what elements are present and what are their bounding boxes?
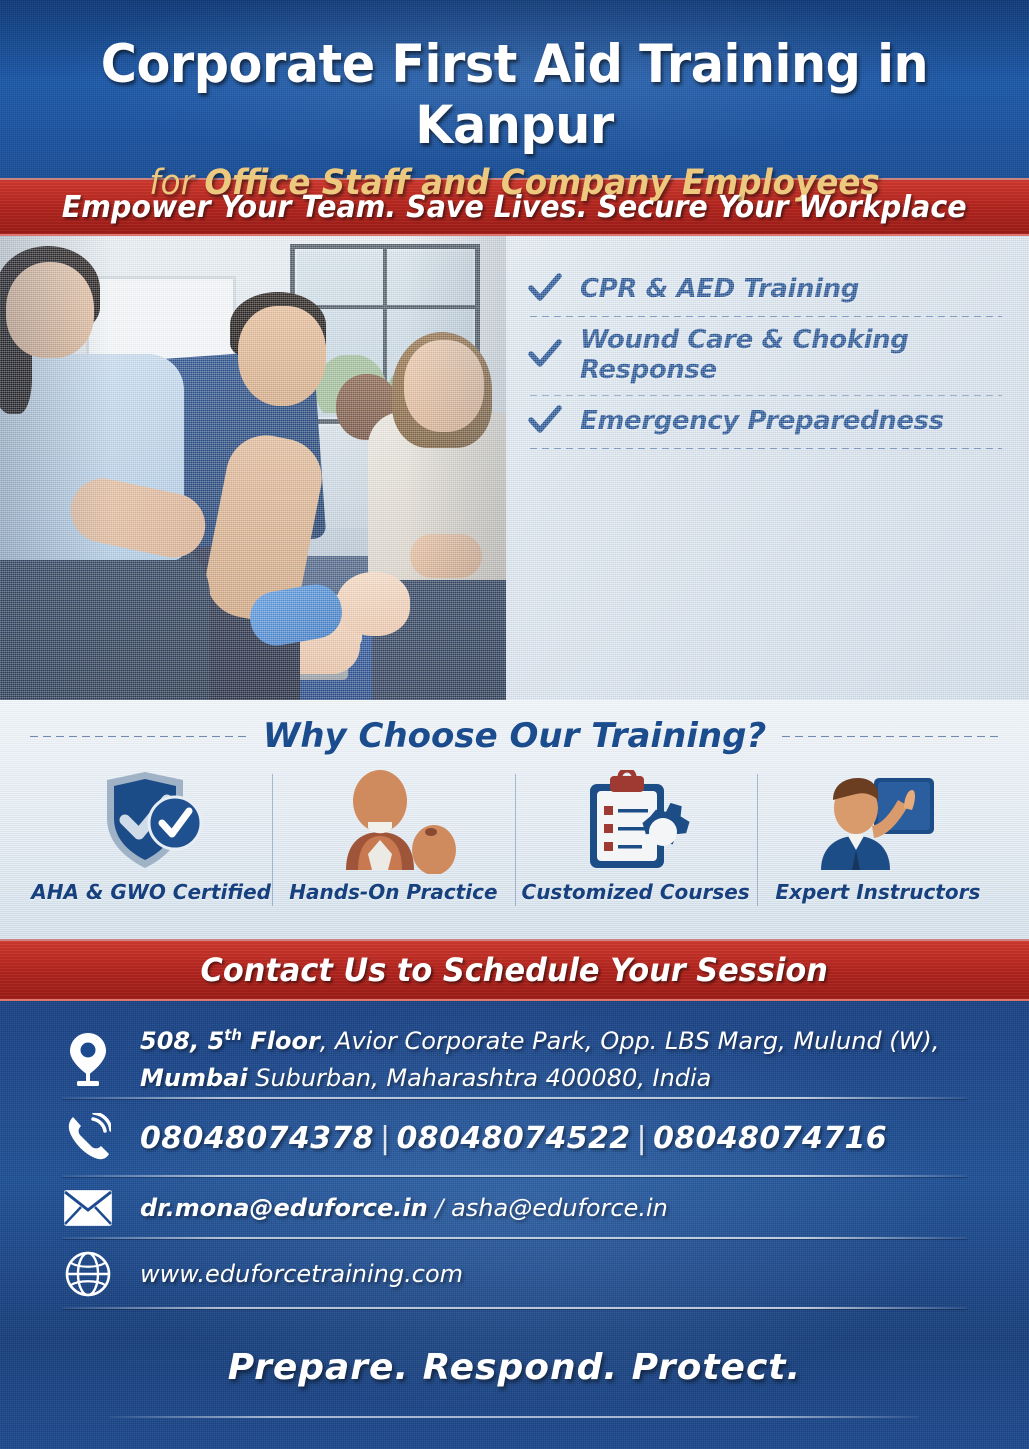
contact-row-website: www.eduforcetraining.com [0,1239,1029,1307]
contact-row-address: 508, 5th Floor, Avior Corporate Park, Op… [0,1001,1029,1097]
location-pin-icon [60,1031,116,1089]
cpr-manikin-icon [330,768,456,876]
feature-bullet-list: CPR & AED Training Wound Care & Choking … [510,264,1010,449]
website-url[interactable]: www.eduforcetraining.com [140,1260,463,1288]
globe-icon [60,1251,116,1297]
address-text: 508, 5th Floor, Avior Corporate Park, Op… [140,1023,939,1097]
heading-rule-left [30,736,247,737]
feature-label: Expert Instructors [775,880,980,904]
hero-section: CPR & AED Training Wound Care & Choking … [0,236,1029,700]
email-primary[interactable]: dr.mona@eduforce.in [140,1194,428,1222]
address-line1-bold-a: 508, 5 [140,1027,224,1055]
heading-rule-right [782,736,999,737]
contact-row-phone: 08048074378|08048074522|08048074716 [0,1099,1029,1175]
contact-row-email: dr.mona@eduforce.in / asha@eduforce.in [0,1177,1029,1237]
why-choose-heading-row: Why Choose Our Training? [0,700,1029,756]
phone-separator: | [374,1121,397,1156]
instructor-board-icon [816,768,940,876]
photo-woman-left-head [6,262,94,358]
feature-label: Hands-On Practice [289,880,497,904]
email-secondary[interactable]: asha@eduforce.in [451,1194,668,1222]
phone-icon [60,1113,116,1163]
slogan: Prepare. Respond. Protect. [0,1309,1029,1388]
envelope-icon [60,1189,116,1227]
bullet-label: Wound Care & Choking Response [580,325,1010,385]
tagline-text: Empower Your Team. Save Lives. Secure Yo… [62,190,967,225]
photo-instructor-head [238,306,326,406]
photo-manikin-head [336,572,410,636]
shield-check-icon [95,768,207,876]
clipboard-gear-icon [580,768,692,876]
contact-heading-band: Contact Us to Schedule Your Session [0,939,1029,1001]
phone-text: 08048074378|08048074522|08048074716 [140,1121,887,1156]
email-separator: / [428,1194,451,1222]
phone-separator: | [631,1121,654,1156]
phone-number-1[interactable]: 08048074378 [140,1121,374,1156]
why-choose-heading: Why Choose Our Training? [263,716,766,756]
photo-woman-right-head [404,340,484,432]
photo-woman-left-legs [0,536,210,700]
feature-grid: AHA & GWO Certified Hands-On Practice [0,756,1029,904]
address-line1-rest: , Avior Corporate Park, Opp. LBS Marg, M… [320,1027,940,1055]
check-icon [528,272,562,306]
contact-heading: Contact Us to Schedule Your Session [201,951,828,989]
why-choose-section: Why Choose Our Training? AHA & GWO Certi… [0,700,1029,939]
poster-root: Corporate First Aid Training in Kanpur f… [0,0,1029,1449]
feature-label: AHA & GWO Certified [31,880,271,904]
feature-card-instructors: Expert Instructors [757,768,999,904]
email-text: dr.mona@eduforce.in / asha@eduforce.in [140,1194,668,1222]
address-line1-superscript: th [224,1026,242,1044]
bullet-divider [530,448,1002,449]
phone-number-2[interactable]: 08048074522 [397,1121,631,1156]
photo-woman-right-hands [410,534,482,578]
poster-header: Corporate First Aid Training in Kanpur f… [0,0,1029,178]
bullet-item: Wound Care & Choking Response [510,317,1010,395]
bullet-label: Emergency Preparedness [580,406,944,436]
contact-section: 508, 5th Floor, Avior Corporate Park, Op… [0,1001,1029,1449]
phone-number-3[interactable]: 08048074716 [653,1121,887,1156]
feature-card-hands-on: Hands-On Practice [272,768,514,904]
feature-card-certified: AHA & GWO Certified [30,768,272,904]
bullet-item: Emergency Preparedness [510,396,1010,448]
page-title: Corporate First Aid Training in Kanpur [36,0,993,156]
address-line2-rest: Suburban, Maharashtra 400080, India [248,1064,712,1092]
bullet-label: CPR & AED Training [580,274,859,304]
feature-label: Customized Courses [522,880,750,904]
check-icon [528,404,562,438]
bullet-item: CPR & AED Training [510,264,1010,316]
feature-card-customized: Customized Courses [515,768,757,904]
check-icon [528,338,562,372]
bottom-rule [110,1416,919,1418]
cpr-training-photo [0,236,506,700]
address-line1-bold-b: Floor [242,1027,320,1055]
address-line2-bold: Mumbai [140,1064,248,1092]
